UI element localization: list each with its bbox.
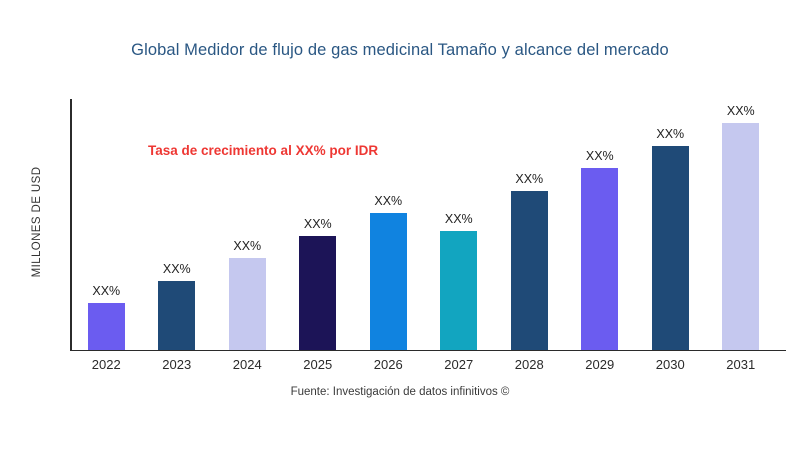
bar-group: XX% xyxy=(511,100,548,350)
bar-value-label-2028: XX% xyxy=(515,172,543,186)
x-tick-label-2023: 2023 xyxy=(137,357,217,372)
bar-value-label-2030: XX% xyxy=(656,127,684,141)
plot-area: XX%XX%XX%XX%XX%XX%XX%XX%XX%XX% xyxy=(71,100,776,350)
x-tick-label-2030: 2030 xyxy=(630,357,710,372)
bar-2024[interactable] xyxy=(229,258,266,350)
bar-group: XX% xyxy=(88,100,125,350)
bar-group: XX% xyxy=(440,100,477,350)
bar-group: XX% xyxy=(652,100,689,350)
x-tick-label-2027: 2027 xyxy=(419,357,499,372)
x-tick-label-2022: 2022 xyxy=(66,357,146,372)
x-tick-label-2028: 2028 xyxy=(489,357,569,372)
bar-value-label-2029: XX% xyxy=(586,149,614,163)
bar-group: XX% xyxy=(722,100,759,350)
x-tick-label-2026: 2026 xyxy=(348,357,428,372)
bar-2025[interactable] xyxy=(299,236,336,350)
bar-value-label-2022: XX% xyxy=(92,284,120,298)
bar-2028[interactable] xyxy=(511,191,548,350)
bar-group: XX% xyxy=(158,100,195,350)
x-tick-label-2024: 2024 xyxy=(207,357,287,372)
x-tick-label-2029: 2029 xyxy=(560,357,640,372)
x-tick-label-2031: 2031 xyxy=(701,357,781,372)
growth-rate-annotation: Tasa de crecimiento al XX% por IDR xyxy=(148,143,378,158)
bar-value-label-2023: XX% xyxy=(163,262,191,276)
bar-2029[interactable] xyxy=(581,168,618,350)
chart-title: Global Medidor de flujo de gas medicinal… xyxy=(0,41,800,60)
bar-value-label-2025: XX% xyxy=(304,217,332,231)
bar-value-label-2027: XX% xyxy=(445,212,473,226)
bar-group: XX% xyxy=(370,100,407,350)
bar-group: XX% xyxy=(581,100,618,350)
bar-2030[interactable] xyxy=(652,146,689,350)
bar-value-label-2024: XX% xyxy=(233,239,261,253)
source-note: Fuente: Investigación de datos infinitiv… xyxy=(0,386,800,398)
bar-chart-figure: Global Medidor de flujo de gas medicinal… xyxy=(0,0,800,450)
bar-value-label-2026: XX% xyxy=(374,194,402,208)
bar-2027[interactable] xyxy=(440,231,477,350)
bar-2031[interactable] xyxy=(722,123,759,350)
bar-2026[interactable] xyxy=(370,213,407,350)
bar-group: XX% xyxy=(229,100,266,350)
bar-2022[interactable] xyxy=(88,303,125,350)
bar-group: XX% xyxy=(299,100,336,350)
bar-value-label-2031: XX% xyxy=(727,104,755,118)
bar-2023[interactable] xyxy=(158,281,195,350)
x-tick-label-2025: 2025 xyxy=(278,357,358,372)
y-axis-title: MILLONES DE USD xyxy=(31,102,43,342)
